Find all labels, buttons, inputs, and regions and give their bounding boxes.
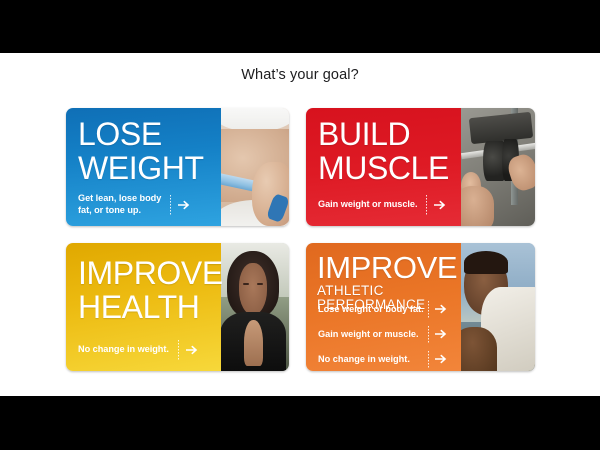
headline-line-1: IMPROVE <box>78 257 223 289</box>
lose-weight-cta-text: Get lean, lose body fat, or tone up. <box>78 193 161 217</box>
cta-line-2: fat, or tone up. <box>78 205 161 217</box>
option-row-lose-weight[interactable]: Lose weight or body fat. <box>318 298 453 320</box>
dotted-divider <box>428 351 429 368</box>
dotted-divider <box>426 195 427 215</box>
goal-card-lose-weight[interactable]: LOSE WEIGHT Get lean, lose body fat, or … <box>66 108 289 226</box>
headline-line-2: MUSCLE <box>318 152 449 184</box>
arrow-right-icon[interactable] <box>435 353 447 365</box>
improve-health-cta[interactable]: No change in weight. <box>78 340 198 360</box>
cta-line-1: Get lean, lose body <box>78 193 161 203</box>
arrow-right-icon[interactable] <box>435 328 447 340</box>
build-muscle-cta-text: Gain weight or muscle. <box>318 199 417 211</box>
dotted-divider <box>428 301 429 318</box>
build-muscle-panel: BUILD MUSCLE Gain weight or muscle. <box>306 108 461 226</box>
dotted-divider <box>428 326 429 343</box>
page-title: What’s your goal? <box>0 67 600 83</box>
headline-line-2: HEALTH <box>78 291 223 323</box>
letterbox-top-bar <box>0 0 600 53</box>
lose-weight-cta[interactable]: Get lean, lose body fat, or tone up. <box>78 193 190 217</box>
headline-line-1: BUILD <box>318 118 449 150</box>
improve-athletic-panel: IMPROVE ATHLETIC PERFORMANCE Lose weight… <box>306 243 461 371</box>
improve-health-photo <box>217 243 289 371</box>
improve-health-headline: IMPROVE HEALTH <box>78 257 223 323</box>
build-muscle-cta[interactable]: Gain weight or muscle. <box>318 195 446 215</box>
dotted-divider <box>170 195 171 215</box>
goal-card-improve-athletic-performance[interactable]: IMPROVE ATHLETIC PERFORMANCE Lose weight… <box>306 243 535 371</box>
dotted-divider <box>178 340 179 360</box>
build-muscle-headline: BUILD MUSCLE <box>318 118 449 184</box>
option-row-gain-weight[interactable]: Gain weight or muscle. <box>318 323 453 345</box>
build-muscle-photo <box>456 108 535 226</box>
headline-line-1: LOSE <box>78 118 204 150</box>
option-label: No change in weight. <box>318 354 428 364</box>
option-label: Gain weight or muscle. <box>318 329 428 339</box>
page-content: What’s your goal? LOSE <box>0 53 600 396</box>
improve-athletic-photo <box>456 243 535 371</box>
goal-card-grid: LOSE WEIGHT Get lean, lose body fat, or … <box>66 108 536 371</box>
lose-weight-panel: LOSE WEIGHT Get lean, lose body fat, or … <box>66 108 221 226</box>
improve-health-cta-text: No change in weight. <box>78 344 169 356</box>
letterbox-bottom-bar <box>0 396 600 450</box>
arrow-right-icon[interactable] <box>186 344 198 356</box>
goal-card-build-muscle[interactable]: BUILD MUSCLE Gain weight or muscle. <box>306 108 535 226</box>
headline-line-1: IMPROVE <box>317 252 461 283</box>
arrow-right-icon[interactable] <box>178 199 190 211</box>
headline-line-2: WEIGHT <box>78 152 204 184</box>
arrow-right-icon[interactable] <box>435 303 447 315</box>
improve-athletic-options: Lose weight or body fat. Gain weight or … <box>318 298 453 371</box>
screenshot-stage: What’s your goal? LOSE <box>0 0 600 450</box>
arrow-right-icon[interactable] <box>434 199 446 211</box>
goal-card-improve-health[interactable]: IMPROVE HEALTH No change in weight. <box>66 243 289 371</box>
improve-health-panel: IMPROVE HEALTH No change in weight. <box>66 243 221 371</box>
option-row-no-change[interactable]: No change in weight. <box>318 348 453 370</box>
option-label: Lose weight or body fat. <box>318 304 428 314</box>
lose-weight-photo <box>217 108 289 226</box>
lose-weight-headline: LOSE WEIGHT <box>78 118 204 184</box>
